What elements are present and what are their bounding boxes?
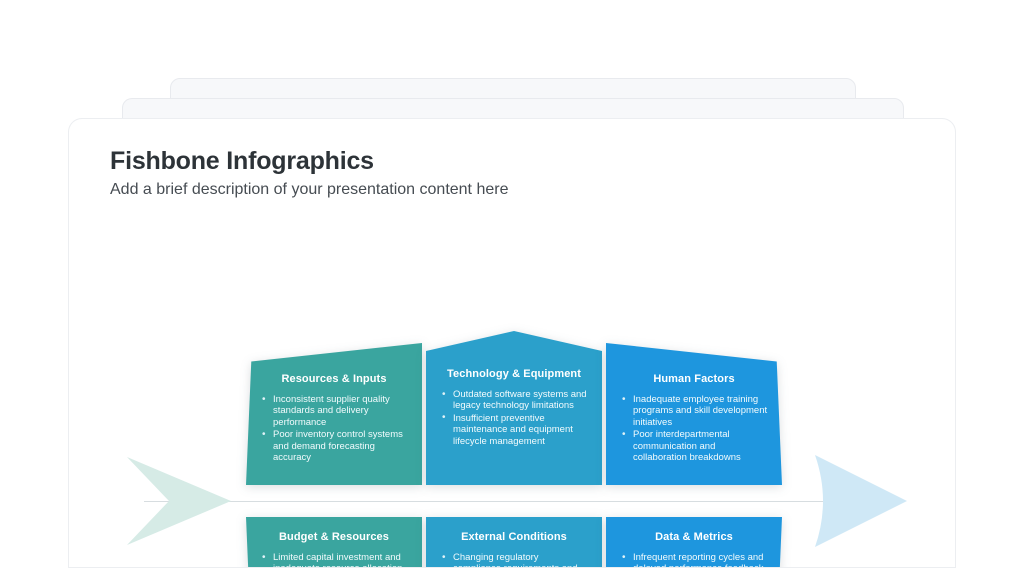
branch-bullet-list: Changing regulatory compliance requireme… <box>440 552 588 568</box>
list-item: Changing regulatory compliance requireme… <box>440 552 588 568</box>
branch-body: Technology & Equipment Outdated software… <box>426 331 602 485</box>
list-item: Inconsistent supplier quality standards … <box>260 394 408 428</box>
page-title: Fishbone Infographics <box>110 147 374 176</box>
list-item: Infrequent reporting cycles and delayed … <box>620 552 768 568</box>
fishbone-spine <box>144 501 844 502</box>
branch-bullet-list: Limited capital investment and inadequat… <box>260 552 408 568</box>
list-item: Limited capital investment and inadequat… <box>260 552 408 568</box>
branch-title: Resources & Inputs <box>260 373 408 385</box>
fishbone-branch-data-metrics[interactable]: Data & Metrics Infrequent reporting cycl… <box>606 517 782 568</box>
list-item: Poor inventory control systems and deman… <box>260 429 408 463</box>
fishbone-branch-resources-inputs[interactable]: Resources & Inputs Inconsistent supplier… <box>246 343 422 485</box>
fishbone-branch-external-conditions[interactable]: External Conditions Changing regulatory … <box>426 517 602 568</box>
branch-bullet-list: Inconsistent supplier quality standards … <box>260 394 408 463</box>
branch-title: Data & Metrics <box>620 531 768 543</box>
branch-body: External Conditions Changing regulatory … <box>426 517 602 568</box>
list-item: Outdated software systems and legacy tec… <box>440 389 588 412</box>
page-subtitle: Add a brief description of your presenta… <box>110 181 508 199</box>
list-item: Poor interdepartmental communication and… <box>620 429 768 463</box>
branch-title: Budget & Resources <box>260 531 408 543</box>
branch-bullet-list: Outdated software systems and legacy tec… <box>440 389 588 447</box>
fishbone-branch-technology-equipment[interactable]: Technology & Equipment Outdated software… <box>426 331 602 485</box>
list-item: Insufficient preventive maintenance and … <box>440 413 588 447</box>
fishbone-diagram: Resources & Inputs Inconsistent supplier… <box>69 219 956 568</box>
branch-title: External Conditions <box>440 531 588 543</box>
slide-panel: Fishbone Infographics Add a brief descri… <box>68 118 956 568</box>
fishbone-branch-budget-resources[interactable]: Budget & Resources Limited capital inves… <box>246 517 422 568</box>
arrow-right-icon <box>811 451 907 551</box>
branch-body: Human Factors Inadequate employee traini… <box>606 343 782 485</box>
branch-body: Budget & Resources Limited capital inves… <box>246 517 422 568</box>
branch-body: Data & Metrics Infrequent reporting cycl… <box>606 517 782 568</box>
branch-title: Technology & Equipment <box>440 368 588 380</box>
arrow-left-icon <box>127 451 231 551</box>
branch-title: Human Factors <box>620 373 768 385</box>
branch-bullet-list: Inadequate employee training programs an… <box>620 394 768 463</box>
fishbone-branch-human-factors[interactable]: Human Factors Inadequate employee traini… <box>606 343 782 485</box>
branch-body: Resources & Inputs Inconsistent supplier… <box>246 343 422 485</box>
branch-bullet-list: Infrequent reporting cycles and delayed … <box>620 552 768 568</box>
list-item: Inadequate employee training programs an… <box>620 394 768 428</box>
